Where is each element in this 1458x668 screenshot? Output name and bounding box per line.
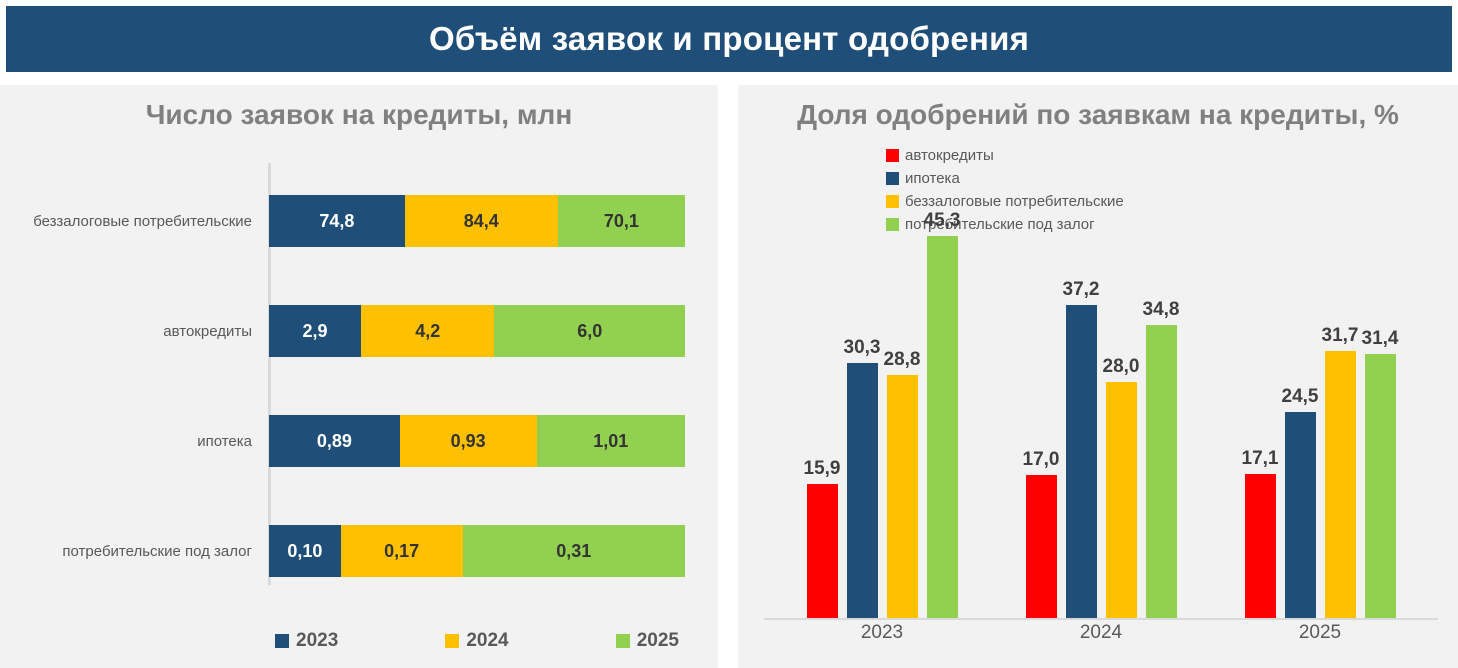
stacked-bar-row-label: автокредиты	[0, 305, 252, 357]
stacked-bar-row: потребительские под залог0,100,170,31	[0, 525, 718, 577]
stacked-bar: 0,100,170,31	[269, 525, 685, 577]
stacked-bar-segment-value: 0,10	[287, 541, 322, 562]
stacked-bar-segment-value: 2,9	[303, 321, 328, 342]
stacked-bar-segment-value: 0,17	[384, 541, 419, 562]
legend-item-2024[interactable]: 2024	[445, 630, 508, 652]
bar-value-label: 28,8	[884, 349, 921, 371]
stacked-bar-segment: 6,0	[494, 305, 685, 357]
bar-value-label: 34,8	[1143, 299, 1180, 321]
bar-value-label: 15,9	[804, 458, 841, 480]
bar-column: 24,5	[1285, 180, 1316, 618]
bar	[1146, 325, 1177, 618]
bar-value-label: 31,7	[1322, 325, 1359, 347]
left-chart-panel: Число заявок на кредиты, млн беззалоговы…	[0, 85, 718, 668]
bar-value-label: 45,3	[924, 210, 961, 232]
stacked-bar: 0,890,931,01	[269, 415, 685, 467]
bar-value-label: 31,4	[1362, 328, 1399, 350]
stacked-bar-segment-value: 84,4	[464, 211, 499, 232]
stacked-bar-row-label: ипотека	[0, 415, 252, 467]
stacked-bar: 2,94,26,0	[269, 305, 685, 357]
legend-item-label: 2023	[296, 630, 338, 652]
bar-column: 31,4	[1365, 180, 1396, 618]
bar	[1066, 305, 1097, 618]
stacked-bar-segment: 74,8	[269, 195, 405, 247]
left-chart-title: Число заявок на кредиты, млн	[0, 99, 718, 131]
bar-value-label: 30,3	[844, 337, 881, 359]
legend-item-0[interactable]: автокредиты	[886, 147, 1124, 164]
left-chart-legend: 202320242025	[269, 630, 685, 652]
bar	[1026, 475, 1057, 618]
stacked-bar-row-label: беззалоговые потребительские	[0, 195, 252, 247]
stacked-bar-row: автокредиты2,94,26,0	[0, 305, 718, 357]
bar	[847, 363, 878, 618]
stacked-bar-segment: 70,1	[558, 195, 685, 247]
stacked-bar-segment: 0,17	[341, 525, 463, 577]
right-chart-title: Доля одобрений по заявкам на кредиты, %	[738, 99, 1458, 131]
stacked-bar-segment: 1,01	[537, 415, 685, 467]
bar-column: 17,0	[1026, 180, 1057, 618]
right-chart-panel: Доля одобрений по заявкам на кредиты, % …	[738, 85, 1458, 668]
bar-column: 17,1	[1245, 180, 1276, 618]
stacked-bar-segment: 0,89	[269, 415, 400, 467]
bar-column: 31,7	[1325, 180, 1356, 618]
bar-column: 28,8	[887, 180, 918, 618]
legend-item-2023[interactable]: 2023	[275, 630, 338, 652]
bar-column: 30,3	[847, 180, 878, 618]
stacked-bar-segment: 0,10	[269, 525, 341, 577]
stacked-bar-segment-value: 0,89	[317, 431, 352, 452]
bar-value-label: 28,0	[1103, 356, 1140, 378]
x-axis-tick-label: 2025	[1299, 622, 1341, 644]
bar	[1365, 354, 1396, 618]
stacked-bar-row: беззалоговые потребительские74,884,470,1	[0, 195, 718, 247]
stacked-bar-segment: 4,2	[361, 305, 494, 357]
bar-group-2023: 15,930,328,845,3	[796, 180, 968, 618]
bar	[887, 375, 918, 618]
bar	[1245, 474, 1276, 618]
stacked-bar-segment-value: 74,8	[319, 211, 354, 232]
legend-swatch-icon	[445, 634, 459, 648]
stacked-bar-segment-value: 1,01	[593, 431, 628, 452]
stacked-bar-plot-area: беззалоговые потребительские74,884,470,1…	[0, 155, 718, 595]
stacked-bar-segment: 84,4	[405, 195, 558, 247]
bar-column: 15,9	[807, 180, 838, 618]
bar-column: 28,0	[1106, 180, 1137, 618]
stacked-bar-segment: 0,31	[463, 525, 685, 577]
legend-item-label: 2024	[466, 630, 508, 652]
bar	[1325, 351, 1356, 618]
bar-group-2024: 17,037,228,034,8	[1015, 180, 1187, 618]
stacked-bar-segment-value: 4,2	[415, 321, 440, 342]
legend-swatch-icon	[616, 634, 630, 648]
legend-item-2025[interactable]: 2025	[616, 630, 679, 652]
stacked-bar-segment: 2,9	[269, 305, 361, 357]
x-axis-tick-label: 2024	[1080, 622, 1122, 644]
page-title: Объём заявок и процент одобрения	[429, 20, 1029, 58]
bar	[1285, 412, 1316, 618]
x-axis-tick-label: 2023	[861, 622, 903, 644]
stacked-bar-segment: 0,93	[400, 415, 537, 467]
header-banner: Объём заявок и процент одобрения	[6, 6, 1452, 72]
bar-column: 37,2	[1066, 180, 1097, 618]
legend-swatch-icon	[886, 149, 899, 162]
bar-value-label: 37,2	[1063, 279, 1100, 301]
bar	[1106, 382, 1137, 618]
stacked-bar-segment-value: 0,31	[556, 541, 591, 562]
bar-group-2025: 17,124,531,731,4	[1234, 180, 1406, 618]
bar	[927, 236, 958, 618]
bar-value-label: 24,5	[1282, 386, 1319, 408]
stacked-bar-segment-value: 6,0	[577, 321, 602, 342]
stacked-bar-row-label: потребительские под залог	[0, 525, 252, 577]
stacked-bar: 74,884,470,1	[269, 195, 685, 247]
bar-value-label: 17,0	[1023, 449, 1060, 471]
right-chart-baseline	[764, 618, 1438, 620]
bar-value-label: 17,1	[1242, 448, 1279, 470]
legend-item-label: 2025	[637, 630, 679, 652]
grouped-bar-plot-area: 15,930,328,845,317,037,228,034,817,124,5…	[764, 180, 1438, 620]
bar	[807, 484, 838, 618]
bar-column: 45,3	[927, 180, 958, 618]
legend-item-label: автокредиты	[905, 147, 994, 164]
stacked-bar-row: ипотека0,890,931,01	[0, 415, 718, 467]
legend-swatch-icon	[275, 634, 289, 648]
bar-column: 34,8	[1146, 180, 1177, 618]
stacked-bar-segment-value: 70,1	[604, 211, 639, 232]
right-chart-x-axis: 202320242025	[764, 622, 1438, 660]
stacked-bar-segment-value: 0,93	[451, 431, 486, 452]
